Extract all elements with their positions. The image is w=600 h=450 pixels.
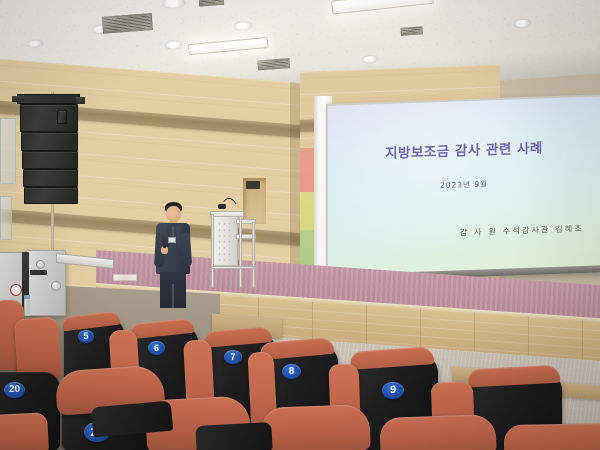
lectern-base-rail	[211, 266, 255, 269]
wall-speaker	[246, 181, 260, 189]
av-cart-knob	[36, 260, 45, 269]
seat-number-badge: 5	[78, 330, 94, 343]
wall-glass-panel	[0, 196, 12, 240]
water-bottle	[24, 298, 30, 316]
speaker-driver-face	[57, 110, 67, 124]
lectern-leg	[211, 214, 214, 288]
av-cart-panel	[30, 270, 47, 275]
lectern-perforation	[217, 221, 233, 261]
speaker-module	[22, 151, 78, 169]
water-bottle-cap	[24, 295, 30, 299]
projection-screen-surface: 지방보조금 감사 관련 사례 2023년 9월 감 사 원 수석감사관 김혜조	[328, 96, 600, 274]
av-cart-knob	[51, 281, 61, 291]
seat-number-badge: 9	[382, 382, 404, 399]
seat-front-cushion	[0, 412, 49, 450]
speaker-module	[24, 187, 78, 204]
seat-number: 20	[9, 385, 20, 395]
seat-number-badge: 8	[282, 364, 301, 379]
seat-number-badge: 7	[224, 350, 242, 364]
seat-front-cushion	[261, 404, 371, 450]
speaker-mount-wing	[76, 97, 85, 104]
speaker-module	[21, 132, 78, 151]
projection-screen: 지방보조금 감사 관련 사례 2023년 9월 감 사 원 수석감사관 김혜조	[326, 94, 600, 282]
seat-number: 9	[390, 385, 396, 396]
presenter-name-badge	[168, 237, 176, 243]
seat-number-badge: 6	[148, 341, 165, 355]
speaker-module	[23, 169, 78, 187]
speaker-module	[20, 104, 78, 132]
seat-number: 5	[83, 332, 88, 341]
seat-armrest[interactable]	[195, 422, 272, 450]
seat-number-badge: 20	[4, 382, 25, 398]
seat-number: 8	[289, 367, 295, 377]
lecture-hall-photo: 지방보조금 감사 관련 사례 2023년 9월 감 사 원 수석감사관 김혜조	[0, 0, 600, 450]
ceiling-air-vent	[102, 13, 153, 34]
lectern-leg	[239, 216, 242, 288]
ceiling-air-vent	[400, 26, 423, 36]
seat-front-cushion	[504, 423, 600, 450]
lectern-leg	[252, 222, 255, 288]
speaker-mount-frame	[17, 94, 80, 104]
presenter-leg-gap	[172, 284, 174, 308]
av-cart-emblem	[10, 284, 22, 296]
seat-number: 6	[154, 344, 159, 353]
lectern-front-panel	[212, 216, 238, 266]
stage-prop-box	[113, 274, 137, 281]
seat-number: 7	[230, 353, 235, 362]
lectern-lamp-head	[218, 204, 226, 209]
wall-glass-panel	[0, 118, 16, 184]
seat-front-cushion	[379, 414, 496, 450]
speaker-mount-wing	[12, 96, 21, 102]
